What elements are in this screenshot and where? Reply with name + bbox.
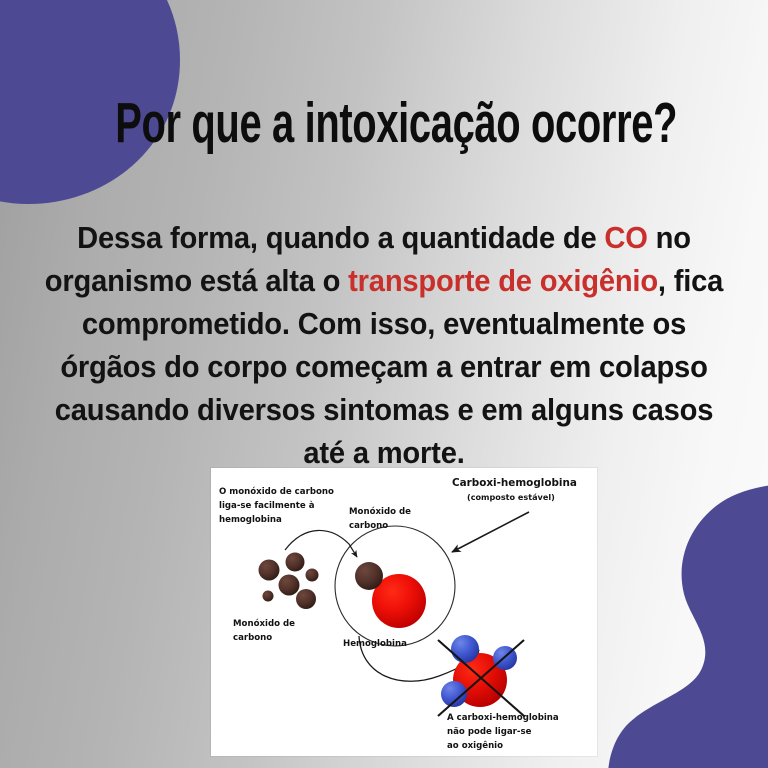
label-co-cluster-line1: Monóxido de xyxy=(233,618,295,629)
label-hemoglobina: Hemoglobina xyxy=(343,639,407,649)
oxygen-sphere-top-left xyxy=(451,635,479,663)
slide-canvas: Por que a intoxicação ocorre? Dessa form… xyxy=(0,0,768,768)
label-co-inside-line2: carbono xyxy=(349,521,388,531)
carbon-monoxide-sphere-bound xyxy=(355,562,383,590)
label-co-binds-line2: liga-se facilmente à xyxy=(219,501,315,511)
label-carboxi-line1: Carboxi-hemoglobina xyxy=(452,477,577,489)
highlight-oxygen-transport: transporte de oxigênio xyxy=(348,264,658,298)
label-co-inside-line1: Monóxido de xyxy=(349,506,411,517)
diagram-image-panel: O monóxido de carbono liga-se facilmente… xyxy=(211,468,597,756)
decorative-purple-blob-bottom-right xyxy=(582,484,768,768)
highlight-co: CO xyxy=(604,221,647,255)
label-carboxi-line2: (composto estável) xyxy=(467,492,555,502)
label-co-binds-line1: O monóxido de carbono xyxy=(219,486,334,497)
slide-title: Por que a intoxicação ocorre? xyxy=(115,94,653,154)
label-no-oxygen-line2: não pode ligar-se xyxy=(447,727,532,737)
label-co-binds-line3: hemoglobina xyxy=(219,515,282,525)
label-no-oxygen-line1: A carboxi-hemoglobina xyxy=(447,713,559,723)
label-co-cluster-line2: carbono xyxy=(233,633,272,643)
label-no-oxygen-line3: ao oxigênio xyxy=(447,740,503,751)
body-text-segment-1: Dessa forma, quando a quantidade de xyxy=(77,221,604,255)
slide-body-text: Dessa forma, quando a quantidade de CO n… xyxy=(34,217,733,475)
